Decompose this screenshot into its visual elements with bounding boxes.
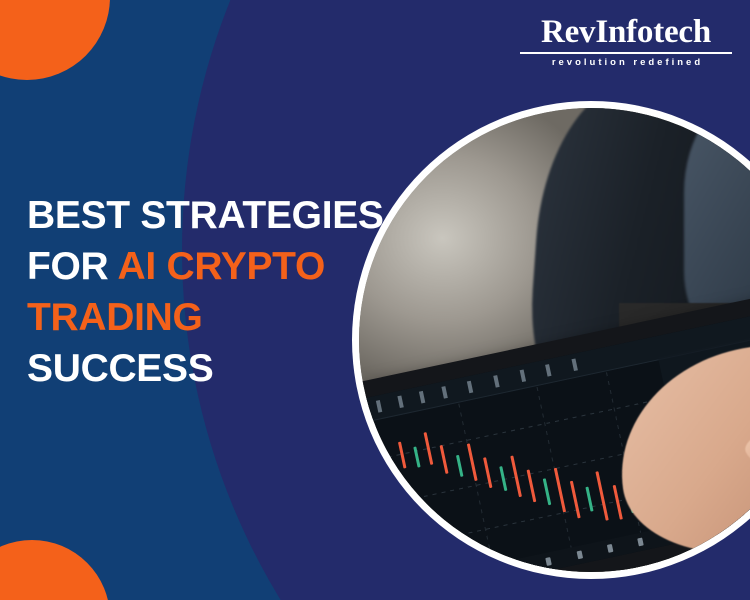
- headline-line-1: BEST STRATEGIES: [27, 190, 387, 241]
- headline-line-3: TRADING: [27, 292, 387, 343]
- photo-ring: [352, 101, 750, 579]
- headline-line-4: SUCCESS: [27, 343, 387, 394]
- headline-line-2-accent: AI CRYPTO: [118, 245, 326, 288]
- brand-logo[interactable]: RevInfotech revolution redefined: [520, 16, 732, 68]
- brand-logo-wordmark: RevInfotech: [520, 16, 732, 50]
- brand-logo-tagline: revolution redefined: [520, 57, 732, 68]
- headline: BEST STRATEGIES FOR AI CRYPTO TRADING SU…: [27, 190, 387, 394]
- hero-photo: [359, 108, 750, 572]
- headline-line-2-plain: FOR: [27, 245, 118, 288]
- photo-index-finger: [741, 428, 750, 481]
- headline-line-2: FOR AI CRYPTO: [27, 241, 387, 292]
- promo-banner: RevInfotech revolution redefined BEST ST…: [0, 0, 750, 600]
- brand-logo-divider: [520, 52, 732, 54]
